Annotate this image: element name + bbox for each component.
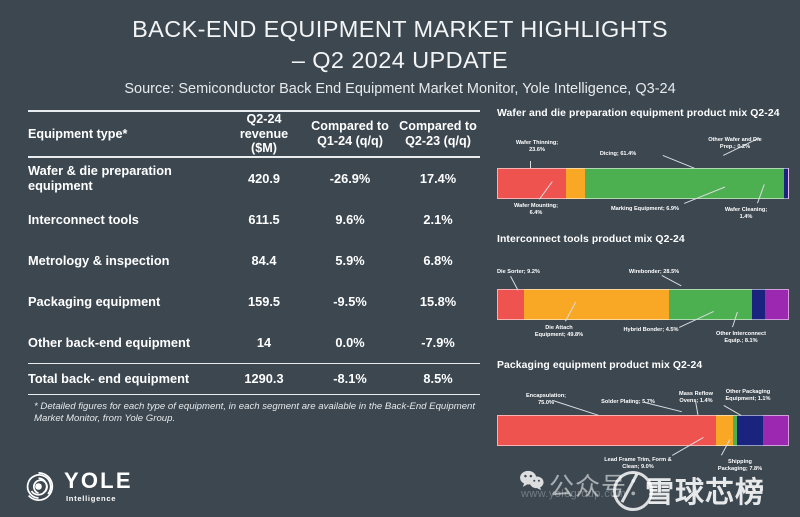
chart-canvas: Die Sorter; 9.2% Wirebonder; 28.5% Die A… — [497, 249, 789, 343]
chart-canvas: Encapsulation; 75.0% Solder Plating; 5.7… — [497, 375, 789, 471]
table-row: Packaging equipment 159.5 -9.5% 15.8% — [28, 281, 480, 322]
yole-spiral-icon — [22, 470, 55, 503]
label-encapsulation: Encapsulation; 75.0% — [509, 393, 583, 407]
chart-title: Interconnect tools product mix Q2-24 — [497, 234, 789, 245]
column-header-revenue-l3: ($M) — [224, 141, 304, 156]
bar-segment-hybrid-bonder — [752, 289, 765, 320]
table-row: Interconnect tools 611.5 9.6% 2.1% — [28, 199, 480, 240]
stacked-bar — [497, 289, 789, 320]
column-header-yoy-l2: Q2-23 (q/q) — [396, 134, 480, 149]
cell-type: Wafer & die preparation equipment — [28, 158, 224, 199]
label-line: 23.6% — [503, 147, 571, 154]
label-wirebonder: Wirebonder; 28.5% — [615, 269, 693, 276]
page-title-line2: – Q2 2024 UPDATE — [0, 45, 800, 76]
label-line: 1.4% — [711, 214, 781, 221]
column-header-revenue-l1: Q2-24 — [224, 112, 304, 127]
cell-yoy: 6.8% — [396, 240, 480, 281]
bar-segment-marking-equipment — [764, 168, 784, 199]
cell-type: Packaging equipment — [28, 281, 224, 322]
bar-segment-other-packaging — [786, 415, 789, 446]
column-header-qoq-l2: Q1-24 (q/q) — [304, 134, 396, 149]
column-header-equipment-type: Equipment type* — [28, 112, 224, 156]
table-total-row: Total back- end equipment 1290.3 -8.1% 8… — [28, 364, 480, 394]
cell-type: Metrology & inspection — [28, 240, 224, 281]
label-line: Wafer Thinning; — [503, 140, 571, 147]
cell-revenue: 159.5 — [224, 281, 304, 322]
yole-logo: YOLE Intelligence — [22, 470, 133, 503]
bar-segment-dicing — [585, 168, 764, 199]
chart-interconnect-tools: Interconnect tools product mix Q2-24 Die… — [497, 234, 789, 343]
cell-qoq: 0.0% — [304, 322, 396, 363]
label-die-sorter: Die Sorter; 9.2% — [497, 269, 559, 276]
cell-type: Interconnect tools — [28, 199, 224, 240]
column-header-qoq-l1: Compared to — [304, 119, 396, 134]
cell-revenue: 14 — [224, 322, 304, 363]
yole-logo-text: YOLE Intelligence — [64, 470, 133, 503]
label-wafer-cleaning: Wafer Cleaning; 1.4% — [711, 207, 781, 221]
label-line: Other Wafer and Die — [689, 137, 781, 144]
label-line: Wafer Cleaning; — [711, 207, 781, 214]
equipment-table-body: Wafer & die preparation equipment 420.9 … — [28, 158, 480, 363]
label-die-attach: Die Attach Equipment; 49.8% — [517, 325, 601, 339]
label-solder-plating: Solder Plating; 5.7% — [589, 399, 667, 406]
slide-root: BACK-END EQUIPMENT MARKET HIGHLIGHTS – Q… — [0, 0, 800, 517]
chart-canvas: Wafer Thinning; 23.6% Dicing; 61.4% Othe… — [497, 123, 789, 215]
page-title-line1: BACK-END EQUIPMENT MARKET HIGHLIGHTS — [0, 14, 800, 45]
bar-segment-shipping-packaging — [763, 415, 786, 446]
yole-logo-center-dot — [35, 483, 42, 490]
bar-segment-wafer-thinning — [497, 168, 566, 199]
cell-yoy: 15.8% — [396, 281, 480, 322]
page-subtitle: Source: Semiconductor Back End Equipment… — [0, 81, 800, 97]
bar-segment-wirebonder — [669, 289, 752, 320]
column-header-qoq: Compared to Q1-24 (q/q) — [304, 112, 396, 156]
bar-segment-lead-frame-trim — [737, 415, 763, 446]
table-header-row: Equipment type* Q2-24 revenue ($M) Compa… — [28, 112, 480, 156]
column-header-yoy-l1: Compared to — [396, 119, 480, 134]
cell-total-type: Total back- end equipment — [28, 364, 224, 394]
cell-qoq: 9.6% — [304, 199, 396, 240]
leader-line — [662, 275, 682, 286]
cell-yoy: 17.4% — [396, 158, 480, 199]
label-line: Other Packaging — [709, 389, 787, 396]
label-hybrid-bonder: Hybrid Bonder; 4.5% — [613, 327, 689, 334]
label-line: 6.4% — [497, 210, 575, 217]
bar-segment-solder-plating — [716, 415, 733, 446]
cell-revenue: 420.9 — [224, 158, 304, 199]
bar-segment-wafer-mounting — [566, 168, 585, 199]
label-dicing: Dicing; 61.4% — [583, 151, 653, 158]
yole-logo-name: YOLE — [64, 470, 133, 492]
column-header-yoy: Compared to Q2-23 (q/q) — [396, 112, 480, 156]
label-line: Other Interconnect — [699, 331, 783, 338]
cell-revenue: 84.4 — [224, 240, 304, 281]
chart-title: Wafer and die preparation equipment prod… — [497, 108, 789, 119]
bar-segment-die-sorter — [497, 289, 524, 320]
cell-revenue: 611.5 — [224, 199, 304, 240]
bar-segment-encapsulation — [497, 415, 716, 446]
wechat-icon — [519, 470, 545, 490]
label-line: Die Attach — [517, 325, 601, 332]
equipment-table-wrap: Equipment type* Q2-24 revenue ($M) Compa… — [28, 110, 480, 426]
label-line: Prep.; 0.2% — [689, 144, 781, 151]
table-row: Metrology & inspection 84.4 5.9% 6.8% — [28, 240, 480, 281]
cell-total-yoy: 8.5% — [396, 364, 480, 394]
watermark: www.yolegroup.com 公众号： 雪球芯榜 — [505, 461, 790, 511]
table-head: Equipment type* Q2-24 revenue ($M) Compa… — [28, 112, 480, 156]
chart-packaging-equipment: Packaging equipment product mix Q2-24 — [497, 360, 789, 471]
equipment-table-total: Total back- end equipment 1290.3 -8.1% 8… — [28, 364, 480, 394]
cell-qoq: 5.9% — [304, 240, 396, 281]
label-line: Equip.; 8.1% — [699, 338, 783, 345]
label-other-packaging: Other Packaging Equipment; 1.1% — [709, 389, 787, 403]
stacked-bar — [497, 415, 789, 446]
charts-column: Wafer and die preparation equipment prod… — [497, 108, 789, 471]
label-line: Encapsulation; — [509, 393, 583, 400]
cell-qoq: -26.9% — [304, 158, 396, 199]
label-line: Equipment; 1.1% — [709, 396, 787, 403]
label-line: 75.0% — [509, 400, 583, 407]
label-line: Equipment; 49.8% — [517, 332, 601, 339]
bar-segment-other-interconnect — [765, 289, 789, 320]
label-other-wafer-die-prep: Other Wafer and Die Prep.; 0.2% — [689, 137, 781, 151]
watermark-brand: 雪球芯榜 — [645, 469, 765, 511]
yole-logo-tagline: Intelligence — [66, 495, 133, 503]
label-marking-equipment: Marking Equipment; 6.9% — [603, 206, 687, 213]
cell-type: Other back-end equipment — [28, 322, 224, 363]
equipment-table: Equipment type* Q2-24 revenue ($M) Compa… — [28, 112, 480, 156]
table-rule-total-bottom — [28, 394, 480, 395]
cell-total-revenue: 1290.3 — [224, 364, 304, 394]
leader-line — [663, 155, 695, 169]
chart-wafer-die-prep: Wafer and die preparation equipment prod… — [497, 108, 789, 215]
column-header-revenue: Q2-24 revenue ($M) — [224, 112, 304, 156]
label-wafer-mounting: Wafer Mounting; 6.4% — [497, 203, 575, 217]
label-wafer-thinning: Wafer Thinning; 23.6% — [503, 140, 571, 154]
label-line: Wafer Mounting; — [497, 203, 575, 210]
table-footnote: * Detailed figures for each type of equi… — [28, 401, 480, 426]
column-header-revenue-l2: revenue — [224, 127, 304, 142]
label-other-interconnect: Other Interconnect Equip.; 8.1% — [699, 331, 783, 345]
cell-yoy: 2.1% — [396, 199, 480, 240]
bar-segment-die-attach-equipment — [524, 289, 669, 320]
bar-segment-other-wafer-die-prep — [788, 168, 789, 199]
table-body: Wafer & die preparation equipment 420.9 … — [28, 158, 480, 363]
cell-total-qoq: -8.1% — [304, 364, 396, 394]
leader-line — [530, 161, 531, 168]
table-row: Other back-end equipment 14 0.0% -7.9% — [28, 322, 480, 363]
cell-qoq: -9.5% — [304, 281, 396, 322]
table-row: Wafer & die preparation equipment 420.9 … — [28, 158, 480, 199]
cell-yoy: -7.9% — [396, 322, 480, 363]
slide-header: BACK-END EQUIPMENT MARKET HIGHLIGHTS – Q… — [0, 14, 800, 97]
chart-title: Packaging equipment product mix Q2-24 — [497, 360, 789, 371]
